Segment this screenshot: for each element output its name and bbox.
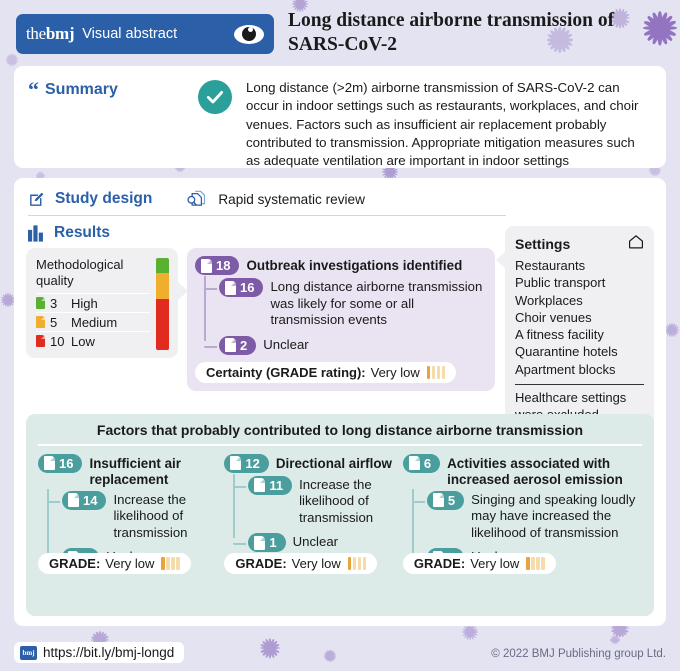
virus-spike — [2, 294, 13, 305]
virus-spike — [1, 296, 15, 303]
mq-stacked-bar — [156, 258, 169, 350]
child-text: Unclear — [293, 533, 338, 551]
outbreak-card: 18 Outbreak investigations identified 16… — [187, 248, 495, 391]
factor-column: 6Activities associated with increased ae… — [403, 454, 642, 575]
grade-bar — [427, 366, 431, 379]
count-value: 1 — [269, 535, 276, 550]
certainty-label: Certainty (GRADE rating): — [206, 365, 366, 380]
mq-item: 5Medium — [36, 312, 150, 331]
factor-header: 12Directional airflow — [224, 454, 393, 473]
outbreak-count-badge: 18 — [195, 256, 239, 275]
mq-item-list: 3High5Medium10Low — [36, 293, 150, 350]
grade-label: GRADE: — [414, 556, 465, 571]
grade-bar — [531, 557, 535, 570]
virus-spike — [382, 171, 398, 173]
virus-spike — [1, 299, 15, 301]
factor-name: Insufficient air replacement — [89, 454, 214, 488]
virus-spike — [665, 326, 679, 333]
count-badge: 16 — [38, 454, 82, 473]
grade-label: GRADE: — [49, 556, 100, 571]
grade-bar — [526, 557, 530, 570]
virus-spike — [1, 296, 15, 303]
count-badge: 2 — [219, 336, 256, 355]
mq-label: High — [71, 296, 98, 311]
factors-divider — [38, 444, 642, 446]
home-icon — [628, 234, 644, 254]
methodological-quality-wrap: Methodological quality 3High5Medium10Low… — [26, 248, 495, 391]
child-text: Unclear — [263, 336, 308, 354]
child-node: 2Unclear — [209, 336, 485, 355]
child-node: 16Long distance airborne transmission wa… — [209, 278, 485, 329]
document-icon — [230, 456, 241, 470]
outbreak-header: 18 Outbreak investigations identified — [195, 256, 485, 275]
summary-text: Long distance (>2m) airborne transmissio… — [246, 79, 652, 171]
settings-item: Choir venues — [515, 309, 644, 326]
search-documents-icon — [186, 190, 206, 208]
page-footer: bmj https://bit.ly/bmj-longd © 2022 BMJ … — [0, 627, 680, 671]
outbreak-title: Outbreak investigations identified — [246, 256, 462, 274]
grade-bar — [432, 366, 436, 379]
virus-core — [668, 326, 676, 334]
certainty-grade-bars — [427, 366, 446, 379]
count-value: 2 — [240, 338, 247, 353]
certainty-grade-pill: Certainty (GRADE rating): Very low — [195, 362, 456, 383]
count-badge: 14 — [62, 491, 106, 510]
mq-count: 10 — [50, 334, 66, 349]
bmj-wordmark: thebmj — [26, 24, 74, 44]
grade-bar — [176, 557, 180, 570]
virus-spike — [665, 329, 679, 331]
count-badge: 12 — [224, 454, 268, 473]
grade-value: Very low — [470, 556, 519, 571]
child-text: Singing and speaking loudly may have inc… — [471, 491, 642, 542]
mq-bar-segment — [156, 299, 169, 350]
child-node: 11Increase the likelihood of transmissio… — [238, 476, 393, 527]
grade-bar — [161, 557, 165, 570]
document-icon — [36, 335, 45, 347]
document-icon — [201, 259, 212, 273]
settings-item: Public transport — [515, 274, 644, 291]
factor-column: 12Directional airflow11Increase the like… — [224, 454, 393, 575]
document-icon — [36, 316, 45, 328]
results-left-column: Results Methodological quality 3High5Med… — [26, 224, 495, 432]
grade-label: GRADE: — [235, 556, 286, 571]
virus-spike — [4, 293, 11, 307]
virus-spike — [668, 323, 675, 337]
settings-item: Quarantine hotels — [515, 343, 644, 360]
mq-count: 5 — [50, 315, 66, 330]
settings-item: A fitness facility — [515, 326, 644, 343]
url-pill[interactable]: bmj https://bit.ly/bmj-longd — [14, 642, 184, 663]
grade-bar — [363, 557, 367, 570]
grade-bars — [161, 557, 180, 570]
study-design-row: Study design Rapid systematic review — [26, 188, 654, 215]
mq-count: 3 — [50, 296, 66, 311]
check-circle-icon — [198, 80, 232, 114]
bar-chart-icon — [28, 225, 46, 242]
logo-bmj: bmj — [46, 24, 74, 43]
mq-label: Low — [71, 334, 95, 349]
certainty-value: Very low — [371, 365, 420, 380]
summary-title: Summary — [45, 81, 118, 99]
virus-spike — [4, 293, 11, 307]
factor-name: Activities associated with increased aer… — [447, 454, 642, 488]
count-value: 6 — [424, 456, 431, 471]
grade-bar — [536, 557, 540, 570]
summary-card: “ Summary Long distance (>2m) airborne t… — [14, 66, 666, 168]
factors-panel: Factors that probably contributed to lon… — [26, 414, 654, 616]
virus-decoration-icon — [665, 323, 679, 337]
document-icon — [225, 338, 236, 352]
results-title: Results — [54, 224, 110, 242]
child-text: Long distance airborne transmission was … — [270, 278, 485, 329]
mq-label: Medium — [71, 315, 117, 330]
bmj-logo-bar: thebmj Visual abstract — [16, 14, 274, 54]
mq-bar-segment — [156, 258, 169, 273]
document-icon — [433, 493, 444, 507]
mq-item: 10Low — [36, 331, 150, 350]
count-badge: 11 — [248, 476, 292, 495]
factors-title: Factors that probably contributed to lon… — [38, 422, 642, 444]
study-design-value: Rapid systematic review — [218, 192, 365, 207]
summary-label-group: “ Summary — [28, 79, 198, 100]
virus-spike — [36, 175, 45, 176]
settings-list: RestaurantsPublic transportWorkplacesCho… — [515, 257, 644, 378]
page-header: thebmj Visual abstract Long distance air… — [0, 0, 680, 68]
count-badge: 6 — [403, 454, 440, 473]
settings-header: Settings — [515, 234, 644, 254]
grade-bars — [348, 557, 367, 570]
grade-bar — [166, 557, 170, 570]
page-title: Long distance airborne transmission of S… — [288, 9, 618, 57]
eye-icon — [234, 25, 264, 44]
visual-abstract-label: Visual abstract — [82, 26, 177, 42]
count-value: 12 — [245, 456, 259, 471]
virus-core — [4, 296, 12, 304]
count-value: 5 — [448, 493, 455, 508]
factor-column: 16Insufficient air replacement14Increase… — [38, 454, 214, 575]
methodological-quality-box: Methodological quality 3High5Medium10Low — [26, 248, 178, 358]
factor-grade-pill: GRADE:Very low — [38, 553, 191, 574]
mq-item: 3High — [36, 293, 150, 312]
document-icon — [36, 297, 45, 309]
factor-grade-pill: GRADE:Very low — [224, 553, 377, 574]
document-icon — [409, 456, 420, 470]
bmj-mini-logo-icon: bmj — [20, 646, 37, 660]
quote-icon: “ — [28, 81, 39, 100]
virus-spike — [666, 324, 677, 335]
results-row: Results Methodological quality 3High5Med… — [26, 224, 654, 432]
virus-spike — [7, 293, 9, 307]
mq-bar-segment — [156, 273, 169, 299]
settings-box: Settings RestaurantsPublic transportWork… — [505, 226, 654, 432]
child-node: 14Increase the likelihood of transmissio… — [52, 491, 214, 542]
child-text: Increase the likelihood of transmission — [299, 476, 393, 527]
url-text[interactable]: https://bit.ly/bmj-longd — [43, 645, 174, 660]
outbreak-count: 18 — [216, 258, 230, 273]
count-badge: 5 — [427, 491, 464, 510]
logo-the: the — [26, 24, 46, 43]
count-value: 11 — [269, 478, 283, 493]
grade-bar — [353, 557, 357, 570]
outbreak-children: 16Long distance airborne transmission wa… — [195, 278, 485, 355]
child-node: 5Singing and speaking loudly may have in… — [417, 491, 642, 542]
grade-bar — [348, 557, 352, 570]
grade-bar — [358, 557, 362, 570]
factor-grade-pill: GRADE:Very low — [403, 553, 556, 574]
grade-bar — [541, 557, 545, 570]
factor-children: 11Increase the likelihood of transmissio… — [224, 476, 393, 553]
count-badge: 1 — [248, 533, 285, 552]
grade-bar — [171, 557, 175, 570]
settings-item: Workplaces — [515, 292, 644, 309]
settings-item: Apartment blocks — [515, 361, 644, 378]
count-value: 16 — [59, 456, 73, 471]
main-panel: Study design Rapid systematic review Res… — [14, 178, 666, 626]
study-design-title: Study design — [55, 190, 152, 208]
factor-name: Directional airflow — [276, 454, 392, 472]
virus-decoration-icon — [1, 293, 15, 307]
grade-value: Very low — [105, 556, 154, 571]
document-icon — [68, 493, 79, 507]
section-divider — [28, 215, 506, 216]
grade-bars — [526, 557, 545, 570]
grade-bar — [437, 366, 441, 379]
virus-spike — [665, 326, 679, 333]
factor-header: 6Activities associated with increased ae… — [403, 454, 642, 488]
grade-bar — [442, 366, 446, 379]
mq-main: Methodological quality 3High5Medium10Low — [36, 257, 150, 350]
factor-header: 16Insufficient air replacement — [38, 454, 214, 488]
copyright-text: © 2022 BMJ Publishing group Ltd. — [491, 648, 666, 660]
factor-columns: 16Insufficient air replacement14Increase… — [38, 454, 642, 575]
settings-divider — [515, 384, 644, 386]
pencil-icon — [28, 191, 45, 208]
count-value: 16 — [240, 280, 254, 295]
count-badge: 16 — [219, 278, 263, 297]
child-text: Increase the likelihood of transmission — [113, 491, 214, 542]
mq-title: Methodological quality — [36, 257, 150, 288]
settings-item: Restaurants — [515, 257, 644, 274]
virus-spike — [2, 294, 13, 305]
document-icon — [254, 536, 265, 550]
child-node: 1Unclear — [238, 533, 393, 552]
count-value: 14 — [83, 493, 97, 508]
document-icon — [44, 456, 55, 470]
virus-spike — [666, 324, 677, 335]
document-icon — [254, 478, 265, 492]
settings-title: Settings — [515, 236, 570, 252]
results-header: Results — [26, 224, 495, 242]
virus-spike — [671, 323, 673, 337]
virus-spike — [668, 323, 675, 337]
document-icon — [225, 281, 236, 295]
grade-value: Very low — [292, 556, 341, 571]
